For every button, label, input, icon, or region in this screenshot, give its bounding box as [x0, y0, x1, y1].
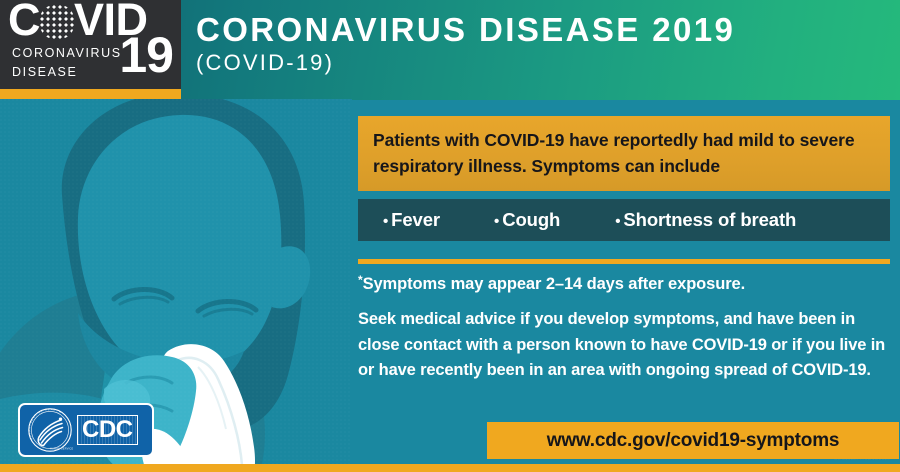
symptom-item-fever: •Fever	[383, 209, 440, 231]
svg-text:A: A	[28, 429, 31, 431]
cdc-wordmark: CDC	[77, 415, 138, 445]
callout-box: Patients with COVID-19 have reportedly h…	[358, 116, 890, 191]
page-subtitle: (COVID-19)	[196, 50, 896, 76]
page-title: CORONAVIRUS DISEASE 2019	[196, 8, 896, 52]
svg-text:HUMAN SERVICES: HUMAN SERVICES	[50, 447, 73, 450]
bullet-icon: •	[615, 213, 620, 230]
bullet-icon: •	[494, 213, 499, 230]
symptoms-bar: •Fever •Cough •Shortness of breath	[358, 199, 890, 241]
covid19-logo-block: CVID 19 CORONAVIRUS DISEASE	[0, 0, 181, 89]
gold-divider-rule	[358, 259, 890, 264]
url-callout-button[interactable]: www.cdc.gov/covid19-symptoms	[487, 422, 899, 459]
covid-logo-number: 19	[119, 30, 173, 80]
bullet-icon: •	[383, 213, 388, 230]
callout-text: Patients with COVID-19 have reportedly h…	[373, 127, 876, 179]
url-label: www.cdc.gov/covid19-symptoms	[547, 430, 840, 452]
advice-paragraph: Seek medical advice if you develop sympt…	[358, 307, 898, 384]
bottom-gold-band	[0, 464, 900, 472]
covid-logo-caption-line1: CORONAVIRUS	[12, 44, 122, 63]
symptom-label-cough: Cough	[502, 209, 560, 230]
cdc-logo: D E P A R T M E N T O F H E A	[18, 403, 154, 457]
covid-infographic-poster: CORONAVIRUS DISEASE 2019 (COVID-19) CVID…	[0, 0, 900, 472]
symptom-label-fever: Fever	[391, 209, 440, 230]
symptom-label-shortness-of-breath: Shortness of breath	[623, 209, 796, 230]
covid-wordmark-c: C	[8, 0, 40, 45]
content-column: Patients with COVID-19 have reportedly h…	[352, 99, 900, 472]
header-title-group: CORONAVIRUS DISEASE 2019 (COVID-19)	[196, 8, 896, 76]
logo-gold-underline	[0, 89, 181, 99]
covid-logo-caption-line2: DISEASE	[12, 63, 122, 82]
virus-halftone-o-icon	[39, 4, 75, 40]
incubation-note-text: Symptoms may appear 2–14 days after expo…	[363, 275, 746, 293]
covid-logo-caption: CORONAVIRUS DISEASE	[12, 44, 122, 82]
symptom-item-cough: •Cough	[494, 209, 560, 231]
hhs-seal-icon: D E P A R T M E N T O F H E A	[27, 407, 73, 453]
incubation-note: *Symptoms may appear 2–14 days after exp…	[358, 267, 898, 297]
symptom-item-shortness-of-breath: •Shortness of breath	[615, 209, 796, 231]
